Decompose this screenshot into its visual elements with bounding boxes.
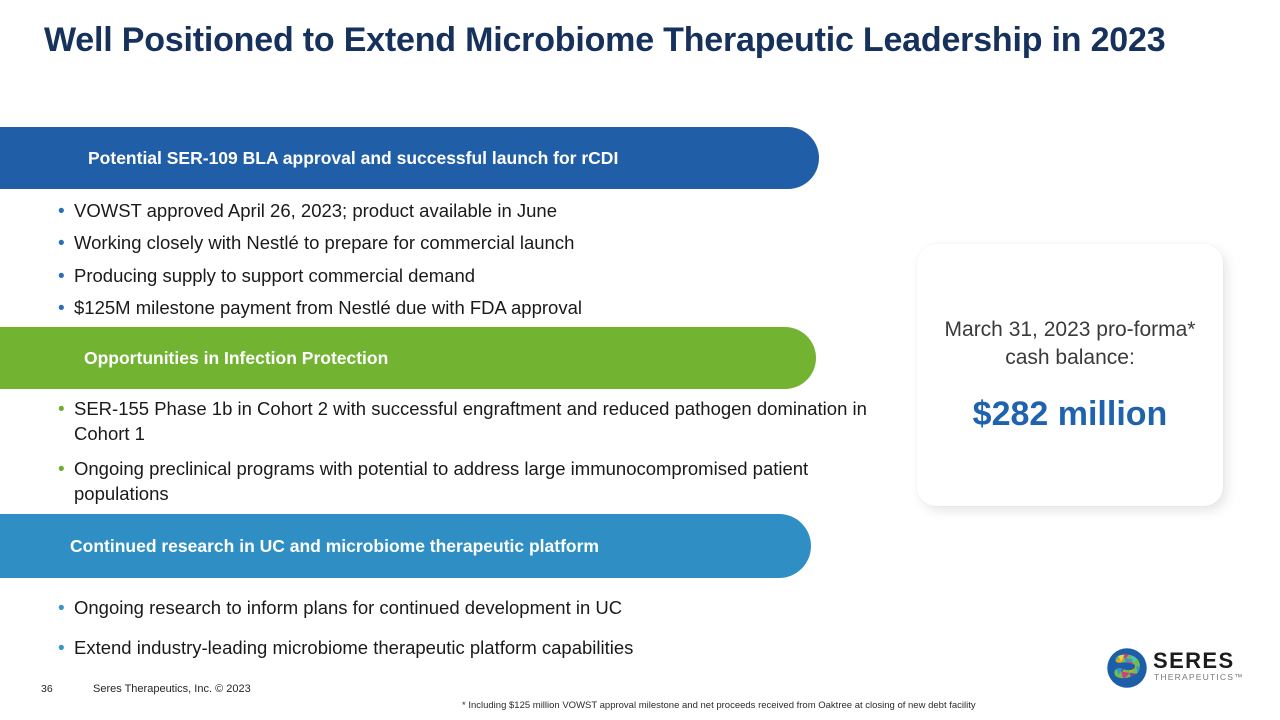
bullet-dot-icon: • xyxy=(52,397,74,422)
list-item-text: $125M milestone payment from Nestlé due … xyxy=(74,296,882,321)
cash-balance-card: March 31, 2023 pro-forma* cash balance: … xyxy=(917,244,1223,506)
section-banner-infection-protection: Opportunities in Infection Protection xyxy=(0,327,816,389)
list-item: • $125M milestone payment from Nestlé du… xyxy=(52,296,882,321)
list-item: • Extend industry-leading microbiome the… xyxy=(52,636,882,661)
bullet-dot-icon: • xyxy=(52,231,74,256)
page-title: Well Positioned to Extend Microbiome The… xyxy=(44,22,1234,59)
bullet-list-rcdi: • VOWST approved April 26, 2023; product… xyxy=(52,199,882,328)
cash-balance-label: March 31, 2023 pro-forma* cash balance: xyxy=(935,316,1205,371)
banner-label: Continued research in UC and microbiome … xyxy=(70,536,599,557)
banner-label: Opportunities in Infection Protection xyxy=(84,348,388,369)
bullet-list-infection-protection: • SER-155 Phase 1b in Cohort 2 with succ… xyxy=(52,397,882,517)
seres-tagline: THERAPEUTICS™ xyxy=(1154,673,1244,682)
list-item: • Ongoing preclinical programs with pote… xyxy=(52,457,882,506)
bullet-list-uc-platform: • Ongoing research to inform plans for c… xyxy=(52,596,882,677)
banner-label: Potential SER-109 BLA approval and succe… xyxy=(88,148,618,169)
list-item-text: Extend industry-leading microbiome thera… xyxy=(74,636,882,661)
seres-logo-mark-icon xyxy=(1106,647,1148,689)
cash-balance-label-line-1: March 31, 2023 pro-forma* xyxy=(935,316,1205,344)
list-item-text: VOWST approved April 26, 2023; product a… xyxy=(74,199,882,224)
list-item: • Working closely with Nestlé to prepare… xyxy=(52,231,882,256)
bullet-dot-icon: • xyxy=(52,264,74,289)
cash-balance-label-line-2: cash balance: xyxy=(935,344,1205,372)
list-item: • Ongoing research to inform plans for c… xyxy=(52,596,882,621)
list-item-text: Producing supply to support commercial d… xyxy=(74,264,882,289)
copyright-text: Seres Therapeutics, Inc. © 2023 xyxy=(93,683,251,695)
section-banner-uc-platform: Continued research in UC and microbiome … xyxy=(0,514,811,578)
bullet-dot-icon: • xyxy=(52,636,74,661)
bullet-dot-icon: • xyxy=(52,457,74,482)
bullet-dot-icon: • xyxy=(52,296,74,321)
cash-balance-value: $282 million xyxy=(973,395,1168,434)
bullet-dot-icon: • xyxy=(52,199,74,224)
section-banner-rcdi: Potential SER-109 BLA approval and succe… xyxy=(0,127,819,189)
footnote-text: * Including $125 million VOWST approval … xyxy=(462,700,976,711)
list-item-text: Working closely with Nestlé to prepare f… xyxy=(74,231,882,256)
page-number: 36 xyxy=(41,683,53,695)
list-item-text: SER-155 Phase 1b in Cohort 2 with succes… xyxy=(74,397,882,446)
list-item: • Producing supply to support commercial… xyxy=(52,264,882,289)
list-item-text: Ongoing research to inform plans for con… xyxy=(74,596,882,621)
seres-logo: SERES THERAPEUTICS™ xyxy=(1106,646,1234,690)
list-item: • SER-155 Phase 1b in Cohort 2 with succ… xyxy=(52,397,882,446)
bullet-dot-icon: • xyxy=(52,596,74,621)
list-item: • VOWST approved April 26, 2023; product… xyxy=(52,199,882,224)
seres-wordmark: SERES xyxy=(1153,650,1235,672)
list-item-text: Ongoing preclinical programs with potent… xyxy=(74,457,882,506)
